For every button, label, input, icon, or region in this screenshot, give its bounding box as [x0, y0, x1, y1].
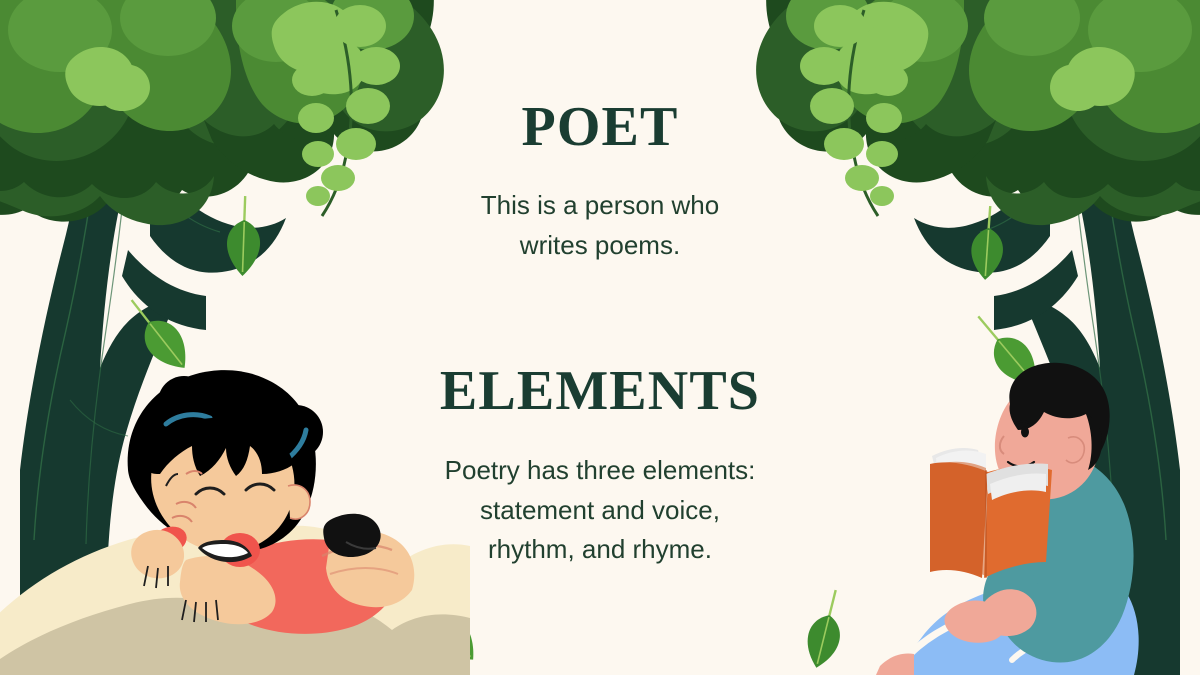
elements-heading: ELEMENTS: [320, 363, 880, 419]
elements-section: ELEMENTS Poetry has three elements: stat…: [320, 363, 880, 570]
poet-body-text: This is a person who writes poems.: [320, 186, 880, 265]
elements-body-text: Poetry has three elements: statement and…: [320, 451, 880, 570]
poet-heading: POET: [320, 99, 880, 155]
poet-section: POET This is a person who writes poems.: [320, 99, 880, 265]
slide-canvas: POET This is a person who writes poems. …: [0, 0, 1200, 675]
